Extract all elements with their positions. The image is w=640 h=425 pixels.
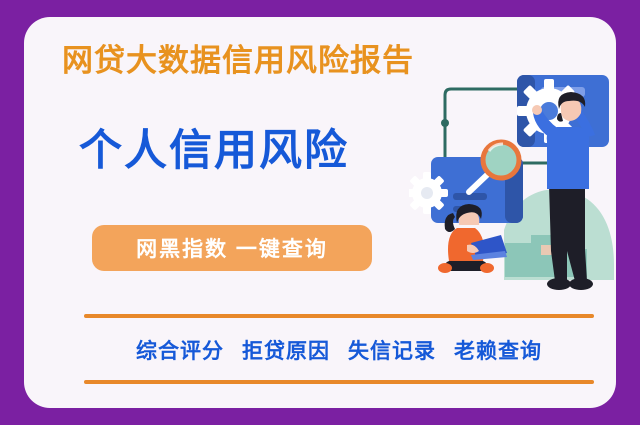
man-shirt [547, 127, 590, 189]
footer-link-reject-reason[interactable]: 拒贷原因 [242, 335, 330, 365]
footer-link-row: 综合评分 拒贷原因 失信记录 老赖查询 [84, 335, 594, 365]
footer-link-laolai-query[interactable]: 老赖查询 [454, 335, 542, 365]
connector-node [441, 119, 449, 127]
connector-upper [445, 89, 521, 123]
teal-block-1 [505, 243, 531, 277]
query-cta-button[interactable]: 网黑指数 一键查询 [92, 225, 372, 271]
data-analysis-illustration [409, 65, 616, 300]
divider-top [84, 314, 594, 318]
woman-shoe-right [480, 263, 494, 273]
divider-bottom [84, 380, 594, 384]
man-shoe-left [547, 278, 571, 290]
man-hand-left [532, 105, 542, 115]
banner-card: 网贷大数据信用风险报告 个人信用风险 网黑指数 一键查询 综合评分 拒贷原因 失… [24, 17, 616, 408]
man-shoe-right [569, 278, 593, 290]
promo-banner: 网贷大数据信用风险报告 个人信用风险 网黑指数 一键查询 综合评分 拒贷原因 失… [0, 0, 640, 425]
woman-shoe-left [438, 263, 452, 273]
footer-link-score[interactable]: 综合评分 [136, 335, 224, 365]
footer-link-default-record[interactable]: 失信记录 [348, 335, 436, 365]
query-cta-label: 网黑指数 一键查询 [136, 233, 328, 263]
